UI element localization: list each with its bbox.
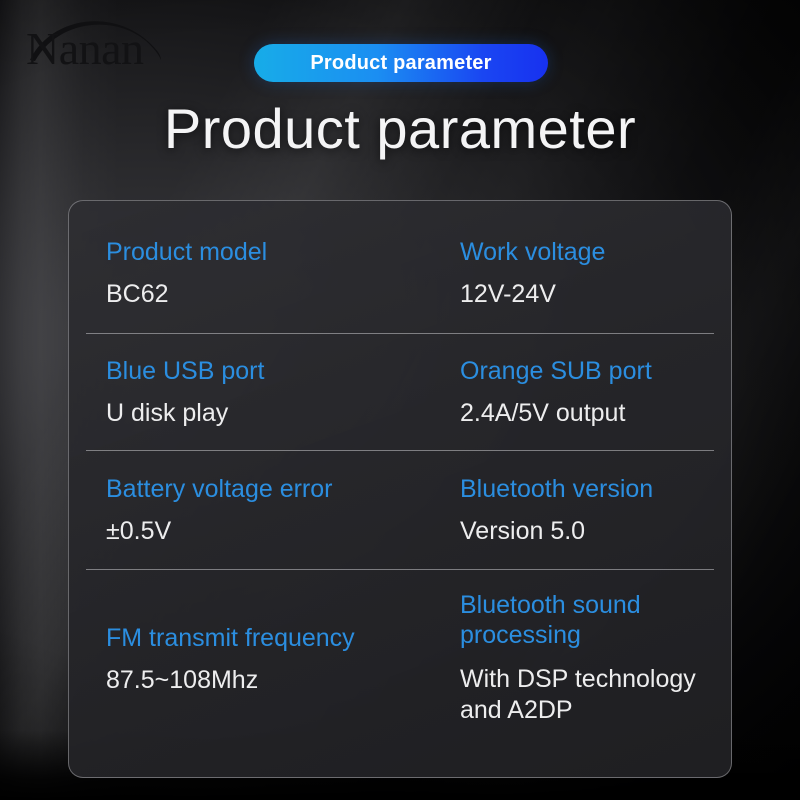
spec-value: 2.4A/5V output bbox=[460, 398, 714, 429]
spec-label: Product model bbox=[106, 238, 456, 268]
brand-logo: Nanan bbox=[18, 8, 198, 82]
spec-value: With DSP technology and A2DP bbox=[460, 664, 714, 725]
product-parameter-page: Nanan Product parameter Product paramete… bbox=[0, 0, 800, 800]
spec-value: 87.5~108Mhz bbox=[106, 665, 456, 696]
spec-label: Orange SUB port bbox=[460, 357, 714, 387]
spec-cell-bluetooth-version: Bluetooth version Version 5.0 bbox=[456, 450, 714, 569]
spec-value: Version 5.0 bbox=[460, 516, 714, 547]
spec-label: Bluetooth version bbox=[460, 475, 714, 505]
product-parameter-badge: Product parameter bbox=[254, 44, 548, 82]
spec-label: Bluetooth sound processing bbox=[460, 591, 714, 650]
spec-table: Product model BC62 Work voltage 12V-24V … bbox=[86, 201, 714, 777]
badge-label: Product parameter bbox=[310, 52, 491, 75]
spec-value: ±0.5V bbox=[106, 516, 456, 547]
spec-label: Battery voltage error bbox=[106, 475, 456, 505]
table-row: Battery voltage error ±0.5V Bluetooth ve… bbox=[86, 450, 714, 569]
spec-cell-work-voltage: Work voltage 12V-24V bbox=[456, 201, 714, 333]
logo-wordmark: Nanan bbox=[26, 23, 144, 74]
spec-label: FM transmit frequency bbox=[106, 624, 456, 654]
table-row: FM transmit frequency 87.5~108Mhz Blueto… bbox=[86, 569, 714, 751]
spec-value: BC62 bbox=[106, 279, 456, 310]
spec-label: Blue USB port bbox=[106, 357, 456, 387]
spec-value: U disk play bbox=[106, 398, 456, 429]
page-title: Product parameter bbox=[0, 96, 800, 161]
spec-cell-fm-transmit-frequency: FM transmit frequency 87.5~108Mhz bbox=[86, 569, 456, 751]
spec-panel: Product model BC62 Work voltage 12V-24V … bbox=[68, 200, 732, 778]
spec-cell-bluetooth-sound-processing: Bluetooth sound processing With DSP tech… bbox=[456, 569, 714, 751]
logo-arc-swoosh-icon: Nanan bbox=[18, 8, 198, 82]
table-row: Blue USB port U disk play Orange SUB por… bbox=[86, 333, 714, 450]
spec-cell-battery-voltage-error: Battery voltage error ±0.5V bbox=[86, 450, 456, 569]
spec-value: 12V-24V bbox=[460, 279, 714, 310]
spec-label: Work voltage bbox=[460, 238, 714, 268]
spec-cell-orange-sub-port: Orange SUB port 2.4A/5V output bbox=[456, 333, 714, 450]
spec-cell-product-model: Product model BC62 bbox=[86, 201, 456, 333]
table-row: Product model BC62 Work voltage 12V-24V bbox=[86, 201, 714, 333]
spec-cell-blue-usb-port: Blue USB port U disk play bbox=[86, 333, 456, 450]
